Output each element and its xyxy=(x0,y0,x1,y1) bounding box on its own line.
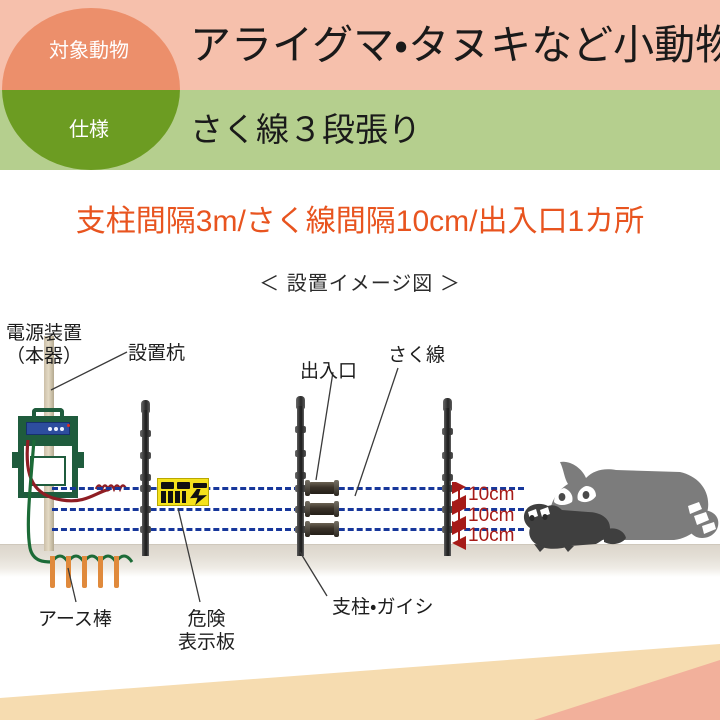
header-value-spec: さく線３段張り xyxy=(190,98,421,162)
label-power-unit: 電源装置 （本器） xyxy=(6,322,82,368)
label-gate: 出入口 xyxy=(300,360,357,383)
sign-glyph xyxy=(175,491,180,503)
specification-line: 支柱間隔3m/さく線間隔10cm/出入口1カ所 xyxy=(0,196,720,240)
sign-glyph xyxy=(168,491,173,503)
earth-rod xyxy=(114,556,119,588)
sign-chip xyxy=(177,482,190,489)
insulator xyxy=(140,474,151,481)
insulator xyxy=(442,452,453,459)
insulator xyxy=(140,430,151,437)
sign-glyph xyxy=(182,491,186,503)
label-danger-sign-line2: 表示板 xyxy=(178,631,235,654)
sign-chip xyxy=(161,482,174,489)
spool-cap-left xyxy=(305,480,310,496)
earth-rod xyxy=(98,556,103,588)
label-danger-sign-line1: 危険 xyxy=(178,608,235,631)
measure-label-10cm-3: 10cm xyxy=(468,525,514,547)
gate-spool-connector xyxy=(303,521,341,537)
installation-diagram: 10cm 10cm 10cm xyxy=(0,300,720,720)
label-danger-sign: 危険 表示板 xyxy=(178,608,235,654)
lightning-bolt-icon xyxy=(190,489,207,505)
earth-rod-connector-wire xyxy=(52,556,132,562)
label-stake: 設置杭 xyxy=(128,342,185,365)
measure-label-10cm-2: 10cm xyxy=(468,505,514,527)
label-power-unit-line1: 電源装置 xyxy=(6,322,82,345)
spool-cap-left xyxy=(305,521,310,537)
insulator xyxy=(295,450,306,457)
spool-cap-right xyxy=(334,480,339,496)
badge-label-spec: 仕様 xyxy=(0,113,178,142)
gate-spool-connector xyxy=(303,501,341,517)
page-root: 対象動物 仕様 アライグマ・タヌキなど小動物 さく線３段張り 支柱間隔3m/さく… xyxy=(0,0,720,720)
gate-spool-connector xyxy=(303,480,341,496)
badge-label-animal: 対象動物 xyxy=(0,34,178,63)
insulator xyxy=(140,452,151,459)
insulator xyxy=(140,506,151,513)
label-fence-wire: さく線 xyxy=(388,344,445,367)
header-value-animal: アライグマ・タヌキなど小動物 xyxy=(190,12,720,78)
measure-label-10cm-1: 10cm xyxy=(468,484,514,506)
spool-cap-right xyxy=(334,521,339,537)
sign-glyph xyxy=(161,491,166,503)
label-earth-rod: アース棒 xyxy=(38,608,112,631)
spool-body xyxy=(308,523,336,535)
spool-body xyxy=(308,482,336,494)
header-badge-circle xyxy=(2,8,180,170)
danger-warning-sign xyxy=(157,478,209,506)
green-earth-cable xyxy=(28,440,52,562)
diagram-caption: ＜ 設置イメージ図 ＞ xyxy=(0,267,720,296)
tanuki-silhouette xyxy=(518,496,628,552)
insulator xyxy=(442,428,453,435)
spool-body xyxy=(308,503,336,515)
earth-rod xyxy=(50,556,55,588)
spool-cap-right xyxy=(334,501,339,517)
earth-rod xyxy=(82,556,87,588)
spool-cap-left xyxy=(305,501,310,517)
insulator xyxy=(295,472,306,479)
label-power-unit-line2: （本器） xyxy=(6,345,82,368)
insulator xyxy=(442,474,453,481)
earth-rod xyxy=(66,556,71,588)
red-output-cable xyxy=(27,440,110,501)
insulator xyxy=(140,526,151,533)
insulator xyxy=(140,485,151,492)
insulator xyxy=(295,426,306,433)
sign-chip xyxy=(193,483,207,488)
label-post-insulator: 支柱・ガイシ xyxy=(332,596,433,619)
